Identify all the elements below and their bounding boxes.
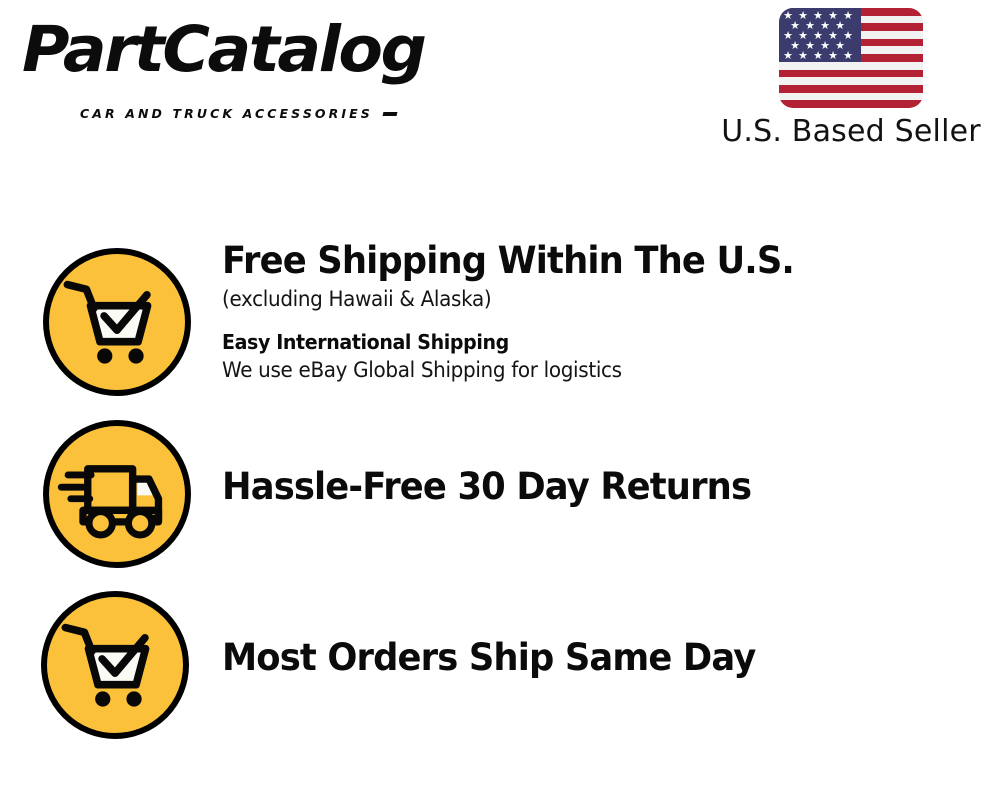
us-based-seller-badge: ★ ★ ★ ★ ★ ★ ★ ★ ★ ★ ★ ★ ★ ★ ★ ★ ★ ★ ★ ★ xyxy=(716,8,986,149)
promo-banner: PartCatalog CAR AND TRUCK ACCESSORIES ★ … xyxy=(0,0,1000,800)
flag-stars: ★ ★ ★ ★ ★ ★ ★ ★ ★ ★ ★ ★ ★ ★ ★ ★ ★ ★ ★ ★ xyxy=(779,8,861,62)
brand-tagline-row: CAR AND TRUCK ACCESSORIES xyxy=(80,106,397,121)
brand-wordmark: PartCatalog xyxy=(22,18,425,81)
feature-text-block: Most Orders Ship Same Day xyxy=(222,639,982,677)
shopping-cart-check-icon xyxy=(43,248,191,396)
feature-title: Free Shipping Within The U.S. xyxy=(222,242,948,280)
feature-text-block: Free Shipping Within The U.S. (excluding… xyxy=(222,242,982,383)
feature-title: Most Orders Ship Same Day xyxy=(222,639,948,677)
brand-tagline: CAR AND TRUCK ACCESSORIES xyxy=(80,106,373,121)
feature-subtitle: (excluding Hawaii & Alaska) xyxy=(222,287,944,312)
feature-secondary-subtitle: We use eBay Global Shipping for logistic… xyxy=(222,358,944,383)
feature-text-block: Hassle-Free 30 Day Returns xyxy=(222,468,982,506)
feature-title: Hassle-Free 30 Day Returns xyxy=(222,468,948,506)
feature-secondary-title: Easy International Shipping xyxy=(222,330,944,354)
shopping-cart-check-icon xyxy=(41,591,189,739)
us-flag-icon: ★ ★ ★ ★ ★ ★ ★ ★ ★ ★ ★ ★ ★ ★ ★ ★ ★ ★ ★ ★ xyxy=(779,8,923,108)
seller-label: U.S. Based Seller xyxy=(716,114,986,149)
delivery-truck-icon xyxy=(43,420,191,568)
brand-logo[interactable]: PartCatalog CAR AND TRUCK ACCESSORIES xyxy=(22,18,502,118)
tagline-dash-icon xyxy=(382,112,397,116)
